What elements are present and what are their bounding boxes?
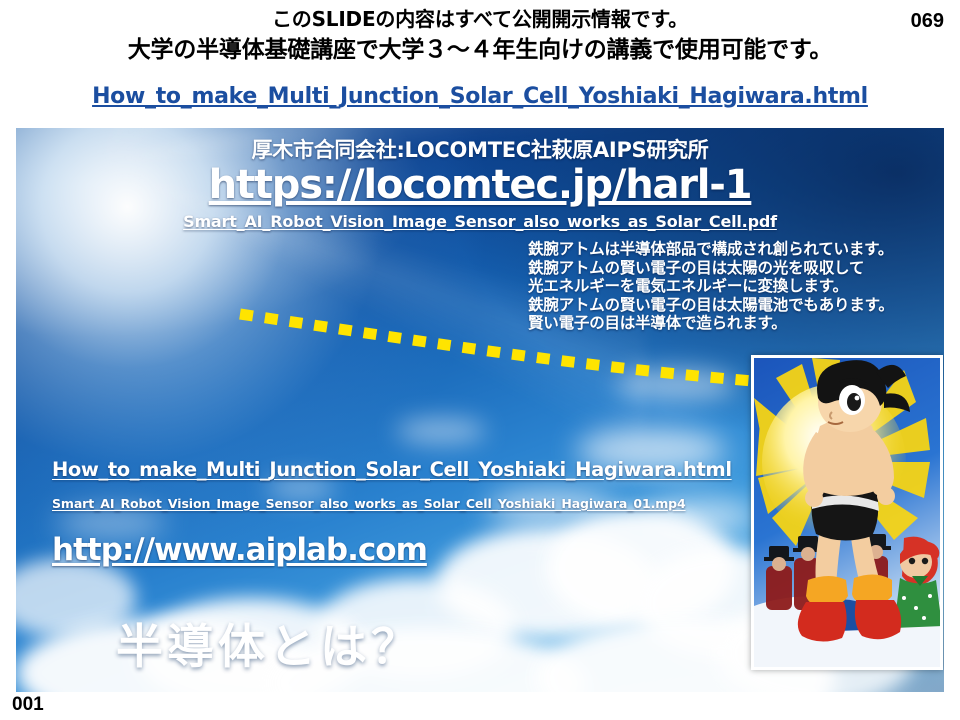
page-number-bottom: 001 <box>12 694 44 716</box>
cloud-decoration <box>616 368 736 402</box>
cloud-decoration <box>546 508 736 628</box>
poster-pdf-link[interactable]: Smart_AI_Robot_Vision_Image_Sensor_also_… <box>16 212 944 231</box>
header-notice-line-1: このSLIDEの内容はすべて公開開示情報です。 <box>0 7 960 31</box>
description-line: 鉄腕アトムの賢い電子の目は太陽電池でもあります。 <box>528 296 894 315</box>
header-notice-line-2: 大学の半導体基礎講座で大学３～４年生向けの講義で使用可能です。 <box>0 37 960 63</box>
cloud-decoration <box>396 418 486 444</box>
poster-image: 厚木市合同会社:LOCOMTEC社萩原AIPS研究所 https://locom… <box>16 128 944 692</box>
poster-mp4-link[interactable]: Smart_AI_Robot_Vision_Image_Sensor_also_… <box>52 496 686 511</box>
poster-headline: 半導体とは？ <box>116 608 422 677</box>
description-line: 鉄腕アトムの賢い電子の目は太陽の光を吸収して <box>528 259 894 278</box>
astro-boy-panel <box>751 355 943 670</box>
page-number-top: 069 <box>911 10 944 33</box>
poster-description: 鉄腕アトムは半導体部品で構成され創られています。 鉄腕アトムの賢い電子の目は太陽… <box>528 240 894 333</box>
cloud-decoration <box>266 478 336 498</box>
description-line: 鉄腕アトムは半導体部品で構成され創られています。 <box>528 240 894 259</box>
description-line: 賢い電子の目は半導体で造られます。 <box>528 314 894 333</box>
header-html-link[interactable]: How_to_make_Multi_Junction_Solar_Cell_Yo… <box>0 84 960 109</box>
poster-main-url[interactable]: https://locomtec.jp/harl-1 <box>16 162 944 208</box>
poster-org-name: 厚木市合同会社:LOCOMTEC社萩原AIPS研究所 <box>16 134 944 164</box>
description-line: 光エネルギーを電気エネルギーに変換します。 <box>528 277 894 296</box>
cloud-decoration <box>436 528 656 638</box>
slide-header: このSLIDEの内容はすべて公開開示情報です。 大学の半導体基礎講座で大学３～４… <box>0 0 960 124</box>
astro-boy-illustration <box>754 358 940 667</box>
poster-html-link[interactable]: How_to_make_Multi_Junction_Solar_Cell_Yo… <box>52 458 732 481</box>
poster-aiplab-url[interactable]: http://www.aiplab.com <box>52 532 427 568</box>
